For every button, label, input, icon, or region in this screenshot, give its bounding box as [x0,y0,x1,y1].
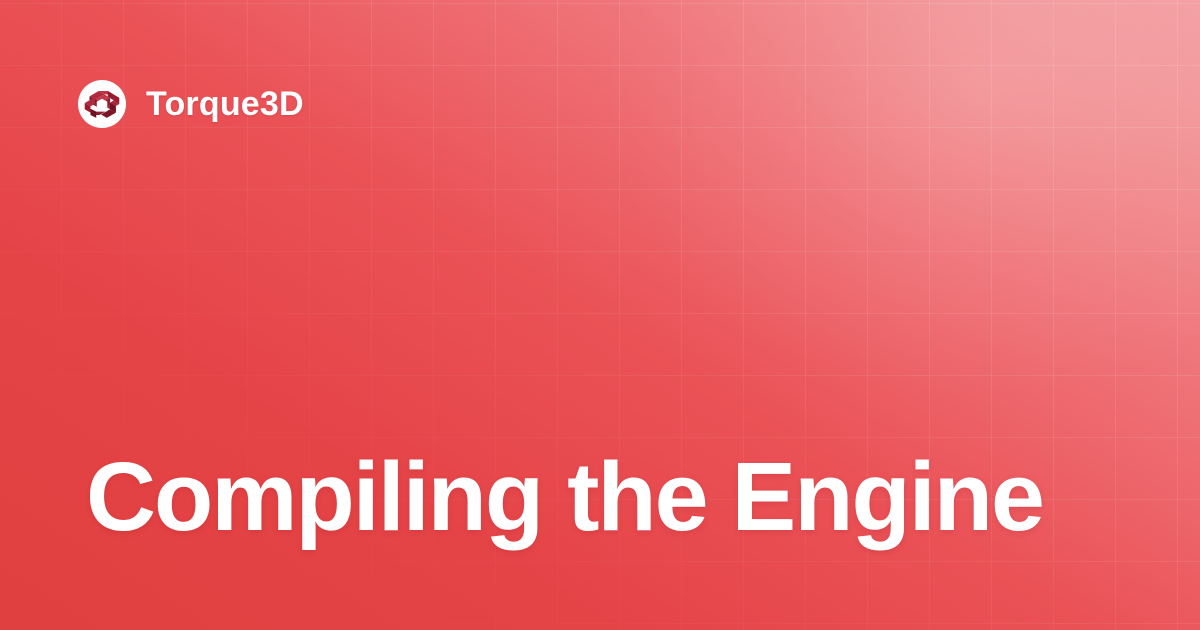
page-title: Compiling the Engine [86,447,1114,548]
background-glow [600,0,1200,400]
brand-name-label: Torque3D [146,87,304,121]
og-banner-card: Torque3D Compiling the Engine [0,0,1200,630]
torque3d-hexagon-pinwheel-logo-icon [78,80,126,128]
brand-lockup[interactable]: Torque3D [78,80,304,128]
